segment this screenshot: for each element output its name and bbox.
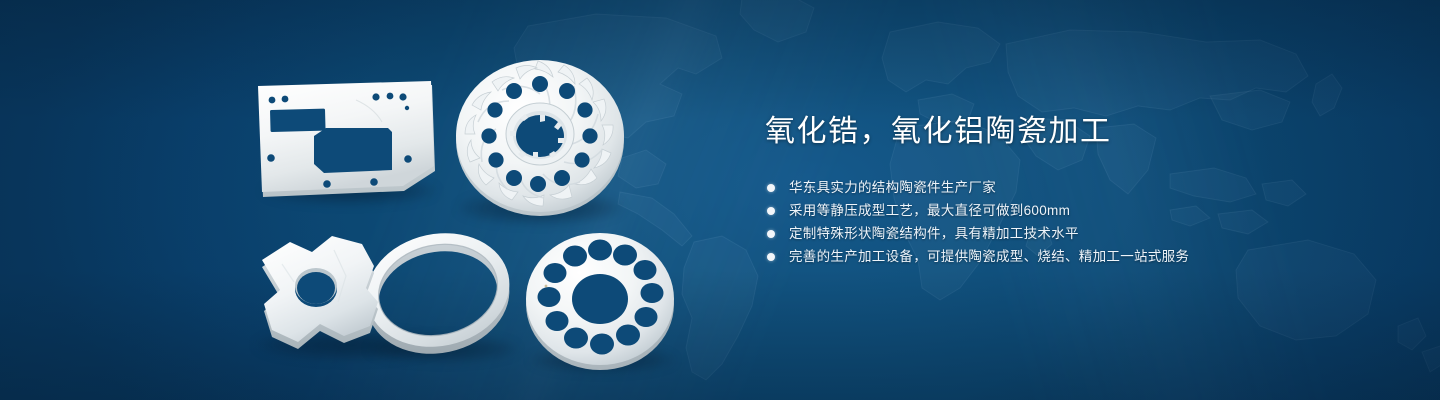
bullet-dot-icon <box>767 207 775 215</box>
banner-text-block: 氧化锆，氧化铝陶瓷加工 华东具实力的结构陶瓷件生产厂家 采用等静压成型工艺，最大… <box>765 112 1385 268</box>
bullet-dot-icon <box>767 253 775 261</box>
bullet-dot-icon <box>767 230 775 238</box>
list-item: 采用等静压成型工艺，最大直径可做到600mm <box>767 199 1385 222</box>
ceramic-perforated-disc <box>524 228 680 368</box>
ceramic-impeller-disc <box>452 52 628 220</box>
ceramic-plate-with-cutouts <box>252 78 442 198</box>
page-title: 氧化锆，氧化铝陶瓷加工 <box>765 112 1385 152</box>
list-item-label: 采用等静压成型工艺，最大直径可做到600mm <box>789 203 1070 218</box>
list-item-label: 定制特殊形状陶瓷结构件，具有精加工技术水平 <box>789 226 1079 241</box>
list-item: 定制特殊形状陶瓷结构件，具有精加工技术水平 <box>767 222 1385 245</box>
list-item: 华东具实力的结构陶瓷件生产厂家 <box>767 176 1385 199</box>
promo-banner: 氧化锆，氧化铝陶瓷加工 华东具实力的结构陶瓷件生产厂家 采用等静压成型工艺，最大… <box>0 0 1440 400</box>
ceramic-cross-shaped-part <box>250 230 405 350</box>
list-item-label: 华东具实力的结构陶瓷件生产厂家 <box>789 180 996 195</box>
list-item: 完善的生产加工设备，可提供陶瓷成型、烧结、精加工一站式服务 <box>767 245 1385 268</box>
bullet-dot-icon <box>767 184 775 192</box>
feature-list: 华东具实力的结构陶瓷件生产厂家 采用等静压成型工艺，最大直径可做到600mm 定… <box>767 176 1385 268</box>
list-item-label: 完善的生产加工设备，可提供陶瓷成型、烧结、精加工一站式服务 <box>789 249 1189 264</box>
